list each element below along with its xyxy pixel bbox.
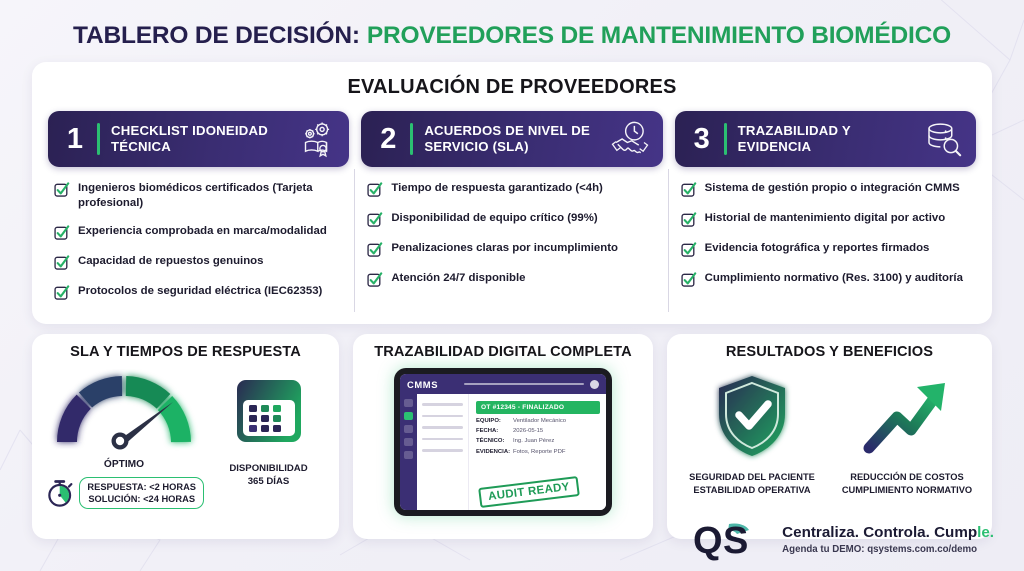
detail-row: EQUIPO: Ventilador Mecánico	[476, 419, 600, 425]
nav-icon-orders[interactable]	[404, 412, 413, 420]
check-label: Ingenieros biomédicos certificados (Tarj…	[78, 181, 345, 211]
title-accent: PROVEEDORES DE MANTENIMIENTO BIOMÉDICO	[367, 22, 951, 50]
check-label: Evidencia fotográfica y reportes firmado…	[705, 241, 930, 256]
svg-text:S: S	[723, 520, 748, 562]
checkbox-check-icon	[54, 255, 70, 271]
detail-row: EVIDENCIA: Fotos, Reporte PDF	[476, 450, 600, 456]
check-item: Protocolos de seguridad eléctrica (IEC62…	[54, 284, 345, 301]
response-badge: RESPUESTA: <2 HORAS SOLUCIÓN: <24 HORAS	[44, 476, 204, 510]
page-title: TABLERO DE DECISIÓN: PROVEEDORES DE MANT…	[0, 0, 1024, 58]
card-number-3: 3	[689, 125, 715, 154]
svg-text:Q: Q	[693, 520, 723, 562]
check-item: Capacidad de repuestos genuinos	[54, 254, 345, 271]
check-label: Capacidad de repuestos genuinos	[78, 254, 263, 269]
card-title-2: ACUERDOS DE NIVEL DE SERVICIO (SLA)	[424, 123, 608, 155]
check-label: Protocolos de seguridad eléctrica (IEC62…	[78, 284, 322, 299]
result-caption-line1: SEGURIDAD DEL PACIENTE	[680, 471, 825, 484]
check-label: Historial de mantenimiento digital por a…	[705, 211, 946, 226]
bottom-row: SLA Y TIEMPOS DE RESPUESTA	[32, 334, 992, 539]
card-number-2: 2	[375, 125, 401, 154]
list-line	[422, 415, 463, 418]
gear-diploma-icon	[295, 119, 337, 159]
sla-body: ÓPTIMO R	[44, 366, 327, 510]
nav-icon-settings[interactable]	[404, 451, 413, 459]
shield-check-icon	[709, 370, 795, 462]
checkbox-check-icon	[681, 272, 697, 288]
checklist-2: Tiempo de respuesta garantizado (<4h) Di…	[361, 167, 662, 288]
app-detail-panel: OT #12345 - FINALIZADO EQUIPO: Ventilado…	[469, 394, 606, 510]
gauge-group: ÓPTIMO R	[44, 368, 204, 510]
calendar-group: DISPONIBILIDAD 365 DÍAS	[210, 368, 327, 489]
sla-panel-title: SLA Y TIEMPOS DE RESPUESTA	[44, 344, 327, 360]
sla-panel: SLA Y TIEMPOS DE RESPUESTA	[32, 334, 339, 539]
calendar-caption-line1: DISPONIBILIDAD	[210, 463, 327, 476]
card-header-2[interactable]: 2 ACUERDOS DE NIVEL DE SERVICIO (SLA)	[361, 111, 662, 167]
results-panel: RESULTADOS Y BENEFICIOS	[667, 334, 992, 539]
result-caption: SEGURIDAD DEL PACIENTE ESTABILIDAD OPERA…	[680, 471, 825, 496]
checklist-1: Ingenieros biomédicos certificados (Tarj…	[48, 167, 349, 301]
checkbox-check-icon	[367, 272, 383, 288]
checkbox-check-icon	[54, 225, 70, 241]
checkbox-check-icon	[54, 285, 70, 301]
card-title-3: TRAZABILIDAD Y EVIDENCIA	[738, 123, 922, 155]
check-item: Ingenieros biomédicos certificados (Tarj…	[54, 181, 345, 211]
check-label: Experiencia comprobada en marca/modalida…	[78, 224, 327, 239]
tablet-device: CMMS	[394, 368, 612, 516]
resolution-time-line: SOLUCIÓN: <24 HORAS	[87, 493, 196, 505]
results-body: SEGURIDAD DEL PACIENTE ESTABILIDAD OPERA…	[679, 366, 980, 496]
response-badge-box: RESPUESTA: <2 HORAS SOLUCIÓN: <24 HORAS	[79, 477, 204, 510]
check-item: Historial de mantenimiento digital por a…	[681, 211, 972, 228]
calendar-icon	[229, 368, 309, 450]
tablet-screen: CMMS	[400, 374, 606, 510]
footer-text: Centraliza. Controla. Cumple. Agenda tu …	[782, 524, 994, 555]
checkbox-check-icon	[367, 182, 383, 198]
evaluation-column-1: 1 CHECKLIST IDONEIDAD TÉCNICA	[48, 111, 349, 314]
app-topbar: CMMS	[400, 374, 606, 394]
detail-value: Fotos, Reporte PDF	[513, 450, 565, 456]
check-label: Disponibilidad de equipo crítico (99%)	[391, 211, 597, 226]
result-item-safety: SEGURIDAD DEL PACIENTE ESTABILIDAD OPERA…	[680, 370, 825, 496]
tablet-wrapper: CMMS	[365, 366, 641, 516]
stopwatch-icon	[44, 476, 75, 510]
result-caption-line1: REDUCCIÓN DE COSTOS	[835, 471, 980, 484]
order-status-bar: OT #12345 - FINALIZADO	[476, 401, 600, 414]
result-caption-line2: CUMPLIMIENTO NORMATIVO	[835, 484, 980, 497]
gauge-icon	[49, 368, 199, 456]
checkbox-check-icon	[681, 212, 697, 228]
card-header-1[interactable]: 1 CHECKLIST IDONEIDAD TÉCNICA	[48, 111, 349, 167]
gauge-label: ÓPTIMO	[44, 459, 204, 470]
checkbox-check-icon	[367, 212, 383, 228]
list-line	[422, 449, 463, 452]
traceability-panel-title: TRAZABILIDAD DIGITAL COMPLETA	[365, 344, 641, 360]
detail-value: Ing. Juan Pérez	[513, 439, 554, 445]
checkbox-check-icon	[681, 182, 697, 198]
app-body: OT #12345 - FINALIZADO EQUIPO: Ventilado…	[400, 394, 606, 510]
check-label: Penalizaciones claras por incumplimiento	[391, 241, 618, 256]
checkbox-check-icon	[367, 242, 383, 258]
database-search-icon	[922, 119, 964, 159]
check-item: Disponibilidad de equipo crítico (99%)	[367, 211, 658, 228]
handshake-clock-icon	[609, 119, 651, 159]
evaluation-columns: 1 CHECKLIST IDONEIDAD TÉCNICA	[48, 111, 976, 314]
check-item: Experiencia comprobada en marca/modalida…	[54, 224, 345, 241]
gauge-needle	[112, 402, 174, 450]
footer-tagline: Centraliza. Controla. Cumple.	[782, 524, 994, 542]
app-list-column[interactable]	[417, 394, 469, 510]
card-number-1: 1	[62, 125, 88, 154]
checkbox-check-icon	[681, 242, 697, 258]
app-sidebar-nav	[400, 394, 417, 510]
results-panel-title: RESULTADOS Y BENEFICIOS	[679, 344, 980, 360]
detail-row: FECHA: 2026-05-15	[476, 429, 600, 435]
result-item-costs: REDUCCIÓN DE COSTOS CUMPLIMIENTO NORMATI…	[835, 370, 980, 496]
check-item: Penalizaciones claras por incumplimiento	[367, 241, 658, 258]
response-time-line: RESPUESTA: <2 HORAS	[87, 481, 196, 493]
checklist-3: Sistema de gestión propio o integración …	[675, 167, 976, 288]
check-item: Evidencia fotográfica y reportes firmado…	[681, 241, 972, 258]
result-caption-line2: ESTABILIDAD OPERATIVA	[680, 484, 825, 497]
evaluation-panel: EVALUACIÓN DE PROVEEDORES 1 CHECKLIST ID…	[32, 62, 992, 324]
list-line	[422, 403, 463, 406]
list-line	[422, 438, 463, 441]
card-title-1: CHECKLIST IDONEIDAD TÉCNICA	[111, 123, 295, 155]
traceability-panel: TRAZABILIDAD DIGITAL COMPLETA CMMS	[353, 334, 653, 539]
evaluation-column-2: 2 ACUERDOS DE NIVEL DE SERVICIO (SLA)	[361, 111, 662, 314]
title-main: TABLERO DE DECISIÓN:	[73, 22, 360, 50]
check-label: Atención 24/7 disponible	[391, 271, 525, 286]
calendar-caption-line2: 365 DÍAS	[210, 476, 327, 489]
detail-row: TÉCNICO: Ing. Juan Pérez	[476, 439, 600, 445]
footer-tagline-dark: Centraliza. Controla. Cump	[782, 524, 977, 541]
footer-demo-link[interactable]: Agenda tu DEMO: qsystems.com.co/demo	[782, 544, 994, 555]
detail-key: EQUIPO:	[476, 419, 510, 425]
evaluation-heading: EVALUACIÓN DE PROVEEDORES	[48, 76, 976, 99]
check-item: Atención 24/7 disponible	[367, 271, 658, 288]
list-line	[422, 426, 463, 429]
card-separator	[724, 123, 727, 155]
footer-tagline-green: le.	[977, 524, 994, 541]
check-item: Sistema de gestión propio o integración …	[681, 181, 972, 198]
footer: Q S Centraliza. Controla. Cumple. Agenda…	[693, 517, 994, 563]
nav-icon-dashboard[interactable]	[404, 399, 413, 407]
check-label: Tiempo de respuesta garantizado (<4h)	[391, 181, 603, 196]
infographic-page: TABLERO DE DECISIÓN: PROVEEDORES DE MANT…	[0, 0, 1024, 571]
card-header-3[interactable]: 3 TRAZABILIDAD Y EVIDENCIA	[675, 111, 976, 167]
result-caption: REDUCCIÓN DE COSTOS CUMPLIMIENTO NORMATI…	[835, 471, 980, 496]
detail-key: FECHA:	[476, 429, 510, 435]
detail-value: Ventilador Mecánico	[513, 419, 566, 425]
checkbox-check-icon	[54, 182, 70, 198]
app-name: CMMS	[407, 379, 438, 390]
nav-icon-reports[interactable]	[404, 438, 413, 446]
topbar-search-bar[interactable]	[464, 383, 584, 386]
qs-logo: Q S	[693, 517, 771, 563]
calendar-caption: DISPONIBILIDAD 365 DÍAS	[210, 463, 327, 489]
card-separator	[410, 123, 413, 155]
nav-icon-assets[interactable]	[404, 425, 413, 433]
check-label: Cumplimiento normativo (Res. 3100) y aud…	[705, 271, 963, 286]
avatar[interactable]	[590, 380, 599, 389]
audit-ready-stamp: AUDIT READY	[478, 476, 580, 508]
check-item: Tiempo de respuesta garantizado (<4h)	[367, 181, 658, 198]
evaluation-column-3: 3 TRAZABILIDAD Y EVIDENCIA	[675, 111, 976, 314]
check-label: Sistema de gestión propio o integración …	[705, 181, 960, 196]
detail-key: EVIDENCIA:	[476, 450, 510, 456]
growth-arrow-icon	[859, 370, 955, 462]
check-item: Cumplimiento normativo (Res. 3100) y aud…	[681, 271, 972, 288]
detail-value: 2026-05-15	[513, 429, 543, 435]
detail-key: TÉCNICO:	[476, 439, 510, 445]
card-separator	[97, 123, 100, 155]
